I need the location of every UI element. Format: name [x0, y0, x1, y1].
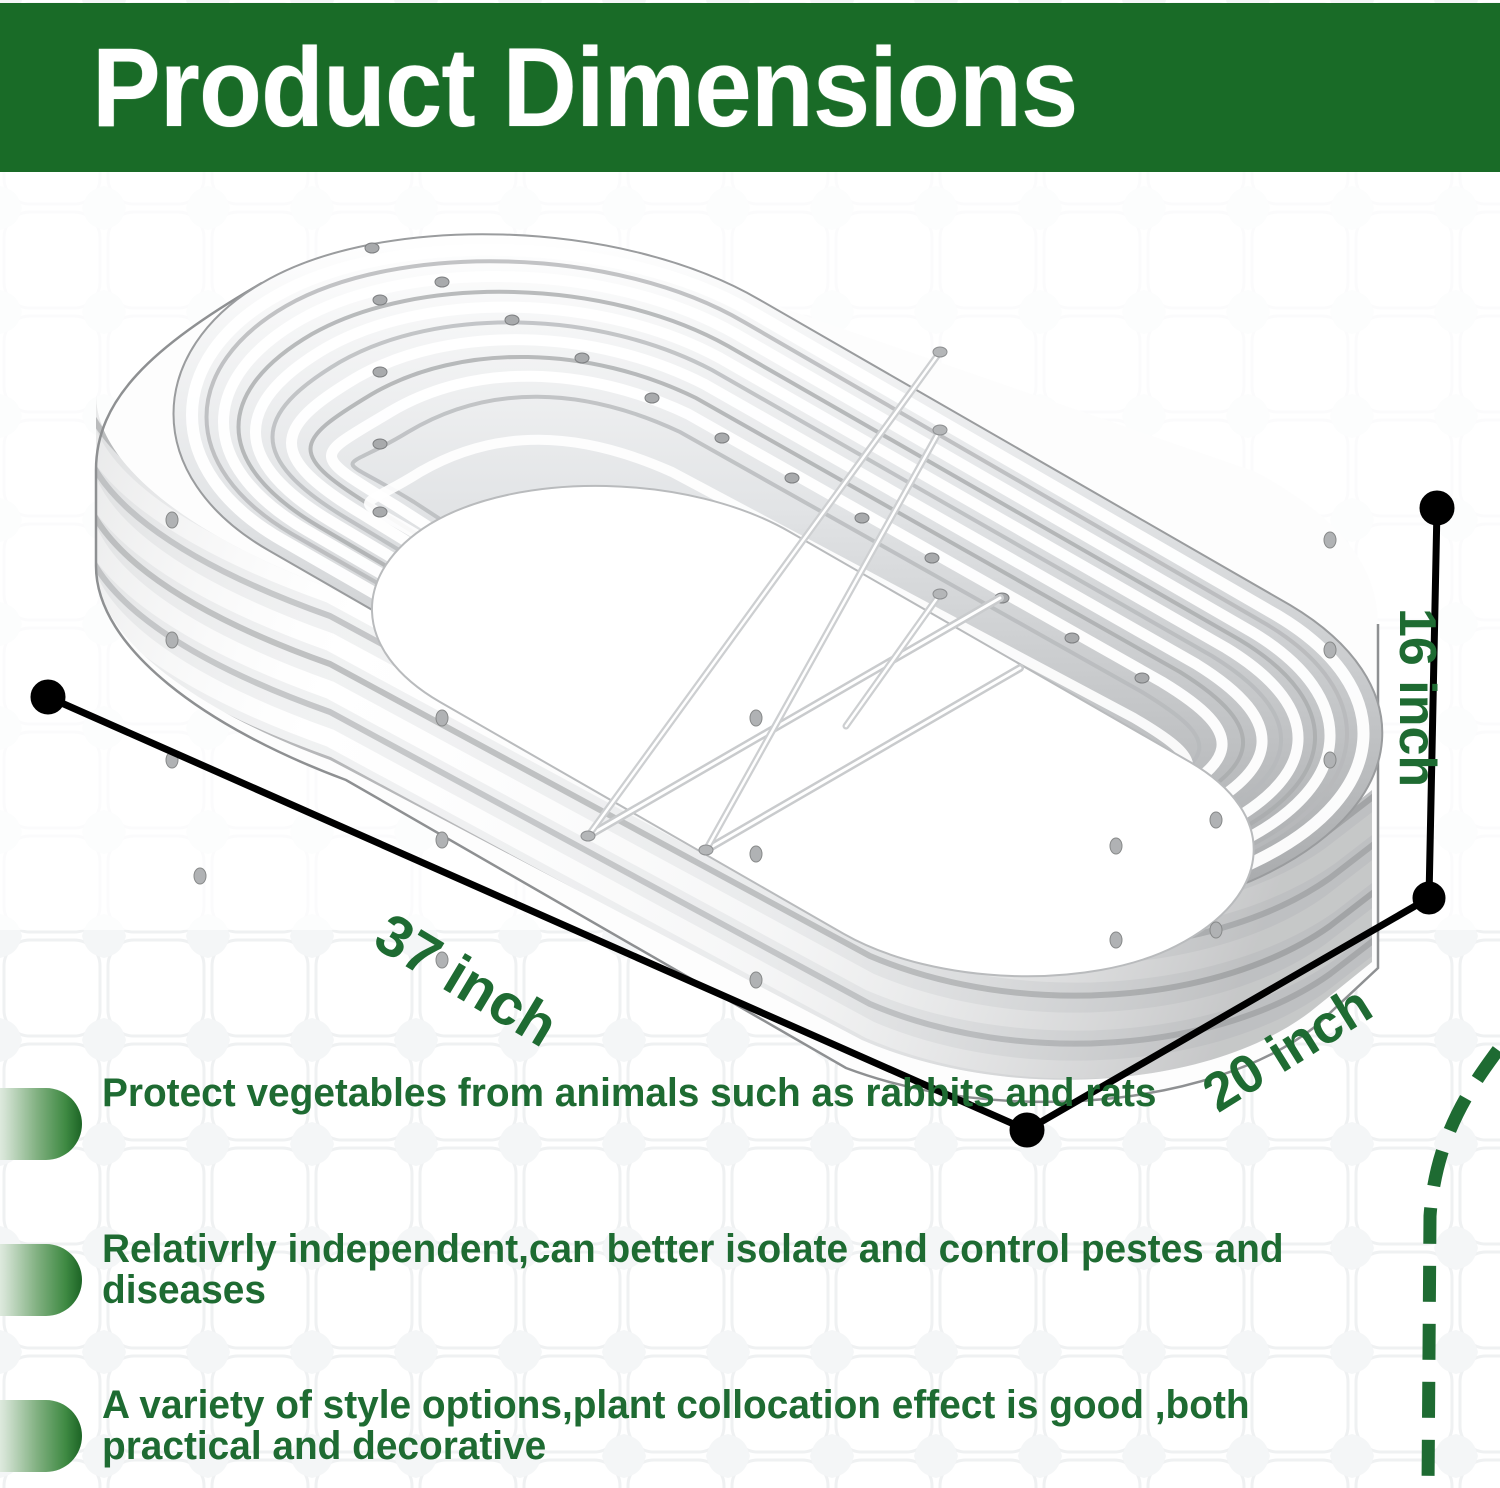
bullet-pill-icon	[0, 1088, 82, 1160]
feature-text: Protect vegetables from animals such as …	[102, 1068, 1353, 1114]
list-item: A variety of style options,plant colloca…	[0, 1380, 1500, 1488]
product-dimensions-infographic: Product Dimensions	[0, 0, 1500, 1488]
dimension-endpoint-height-top	[1423, 494, 1451, 522]
bullet-pill-icon	[0, 1400, 82, 1472]
feature-text: Relativrly independent,can better isolat…	[102, 1224, 1353, 1311]
dimension-line-length	[48, 697, 1027, 1130]
dimension-endpoint-height-bottom	[1416, 885, 1442, 911]
list-item: Protect vegetables from animals such as …	[0, 1068, 1500, 1224]
feature-text: A variety of style options,plant colloca…	[102, 1380, 1353, 1467]
bullet-pill-icon	[0, 1244, 82, 1316]
dimension-endpoint-length-start	[34, 683, 62, 711]
dimension-label-height: 16 inch	[1387, 608, 1447, 787]
feature-list: Protect vegetables from animals such as …	[0, 1068, 1500, 1488]
list-item: Relativrly independent,can better isolat…	[0, 1224, 1500, 1380]
